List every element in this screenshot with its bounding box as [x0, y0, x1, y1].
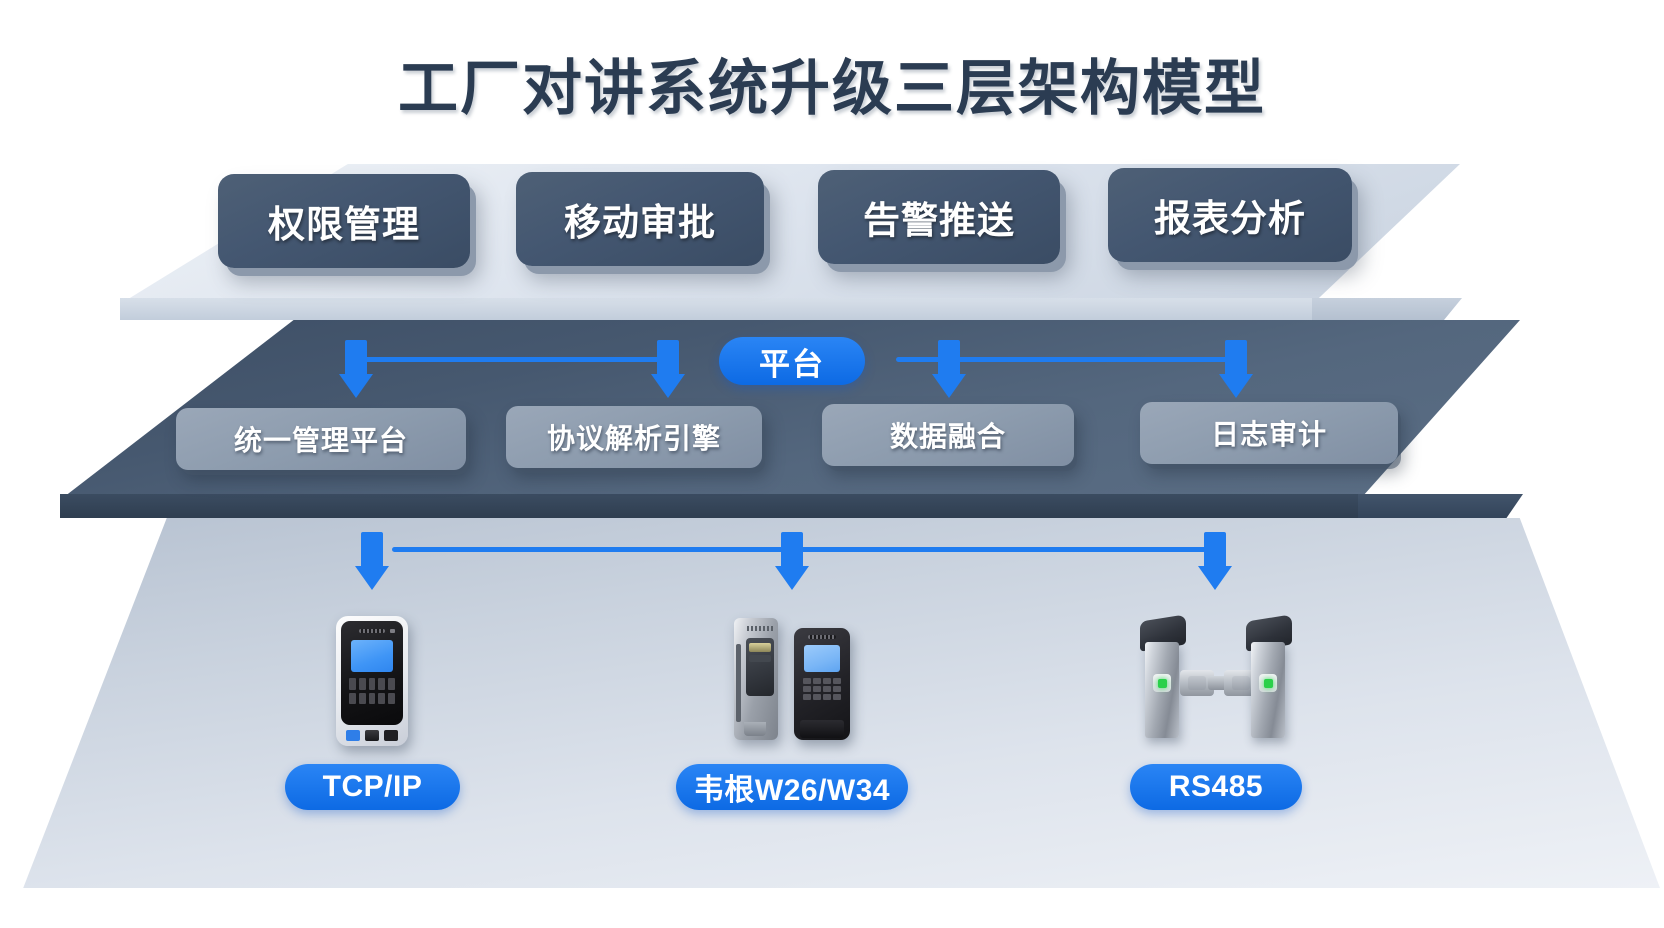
arrow-down-permission: [339, 340, 373, 398]
status-led-icon: [390, 629, 395, 633]
protocol-badge-rs485[interactable]: RS485: [1130, 764, 1302, 810]
device-access-control-terminal: [336, 616, 408, 748]
connector-line-left: [356, 357, 668, 362]
terminal-footer-icons: [346, 729, 398, 741]
app-card-permission-management[interactable]: 权限管理: [218, 174, 470, 268]
wiegand-screen-icon: [804, 645, 840, 672]
reader-panel-icon: [746, 638, 774, 696]
platform-card-protocol-engine[interactable]: 协议解析引擎: [506, 406, 762, 468]
protocol-badge-wiegand[interactable]: 韦根W26/W34: [676, 764, 908, 810]
keypad-icon: [349, 678, 395, 704]
wiegand-keypad-icon: [803, 678, 841, 700]
platform-layer-slab-edge-right: [1358, 494, 1523, 518]
wiegand-stand-icon: [800, 720, 844, 738]
application-layer-slab-edge: [120, 298, 1460, 320]
platform-badge[interactable]: 平台: [719, 337, 865, 385]
device-wiegand-terminal: [794, 628, 850, 740]
reader-base-icon: [744, 722, 766, 736]
app-card-mobile-approval[interactable]: 移动审批: [516, 172, 764, 266]
reader-side-strip-icon: [736, 644, 741, 722]
turnstile-indicator-right-icon: [1259, 674, 1277, 692]
device-fingerprint-reader: [734, 618, 780, 742]
reader-logo-icon: [747, 626, 773, 631]
arrow-down-tcpip: [355, 532, 389, 590]
protocol-badge-tcpip[interactable]: TCP/IP: [285, 764, 460, 810]
fingerprint-sensor-icon: [749, 643, 771, 652]
application-layer-slab-edge-right: [1312, 298, 1462, 320]
device-layer: TCP/IP 韦根W26/W34 RS485: [0, 518, 1664, 898]
device-connector-line-left: [392, 547, 790, 552]
device-connector-line-right: [800, 547, 1212, 552]
terminal-face-icon: [341, 621, 403, 725]
arrow-down-report: [1219, 340, 1253, 398]
page-title: 工厂对讲系统升级三层架构模型: [0, 40, 1664, 127]
turnstile-pillar-right: [1246, 618, 1292, 738]
arrow-down-wiegand: [775, 532, 809, 590]
app-card-alarm-push[interactable]: 告警推送: [818, 170, 1060, 264]
speaker-grille-icon: [359, 629, 385, 633]
reader-display-icon: [749, 655, 771, 662]
platform-layer-slab-edge: [60, 494, 1520, 518]
architecture-diagram: 工厂对讲系统升级三层架构模型 权限管理 移动审批 告警推送 报表分析 平台: [0, 0, 1664, 928]
device-swing-turnstile: [1140, 618, 1292, 742]
wiegand-speaker-grille-icon: [808, 635, 836, 639]
arrow-down-rs485: [1198, 532, 1232, 590]
platform-card-unified-management[interactable]: 统一管理平台: [176, 408, 466, 470]
platform-layer: 平台 统一管理平台 协议解析引擎 数据融合 日志审计: [0, 320, 1664, 540]
arrow-down-approval: [651, 340, 685, 398]
terminal-screen-icon: [351, 640, 393, 672]
app-card-report-analysis[interactable]: 报表分析: [1108, 168, 1352, 262]
platform-card-data-fusion[interactable]: 数据融合: [822, 404, 1074, 466]
turnstile-indicator-left-icon: [1153, 674, 1171, 692]
platform-card-log-audit[interactable]: 日志审计: [1140, 402, 1398, 464]
arrow-down-alarm: [932, 340, 966, 398]
